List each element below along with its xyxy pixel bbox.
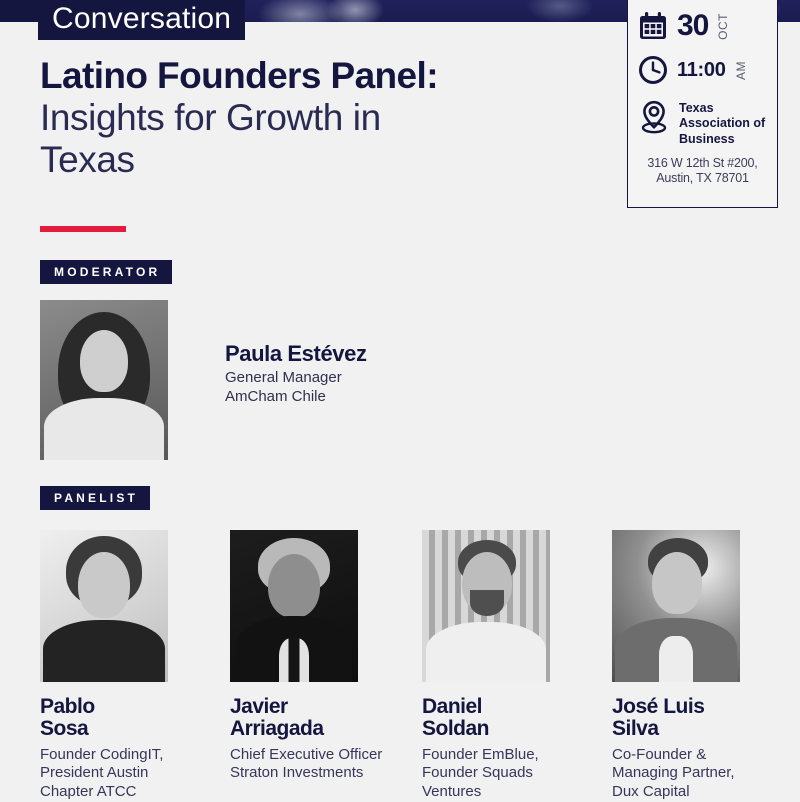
moderator-role: General Manager AmCham Chile [225,369,367,406]
panelist-name: Daniel Soldan [422,696,596,741]
panelist-photo [230,530,358,682]
event-address: 316 W 12th St #200, Austin, TX 78701 [637,156,768,187]
panelist-photo [40,530,168,682]
title-line-2: Insights for Growth in [40,97,600,139]
title-line-3: Texas [40,139,600,181]
panelist-role-line-1: Chief Executive Officer [230,746,404,765]
location-pin-icon [637,99,671,135]
panelist-role-line-2: President Austin [40,764,214,783]
panelist-section-badge: PANELIST [40,486,150,510]
panelist-card: Pablo Sosa Founder CodingIT, President A… [40,530,214,802]
clock-icon [637,54,669,86]
panelist-photo [422,530,550,682]
event-details-card: 30 OCT 11:00 AM Texas Association of Bus… [627,0,778,208]
panelist-photo [612,530,740,682]
panelist-name-line-1: Daniel [422,696,596,718]
panelist-role-line-3: Ventures [422,783,596,802]
moderator-name: Paula Estévez [225,342,367,366]
moderator-section-badge: MODERATOR [40,260,172,284]
panelist-name-line-1: Pablo [40,696,214,718]
panelist-name-line-2: Soldan [422,718,596,740]
event-day: 30 [677,11,708,41]
moderator-role-line-1: General Manager [225,369,367,388]
event-location-row: Texas Association of Business [637,99,768,147]
panelist-name-line-2: Arriagada [230,718,404,740]
moderator-role-line-2: AmCham Chile [225,388,367,407]
event-date-row: 30 OCT [637,10,768,42]
panelist-role: Founder EmBlue, Founder Squads Ventures [422,746,596,802]
event-address-line-2: Austin, TX 78701 [637,171,768,186]
panelist-role: Chief Executive Officer Straton Investme… [230,746,404,784]
moderator-block: Paula Estévez General Manager AmCham Chi… [40,300,367,460]
moderator-photo [40,300,168,460]
moderator-text: Paula Estévez General Manager AmCham Chi… [225,342,367,406]
event-month: OCT [716,13,730,40]
title-line-1: Latino Founders Panel: [40,55,600,97]
panelist-name: Pablo Sosa [40,696,214,741]
panelist-card: Daniel Soldan Founder EmBlue, Founder Sq… [422,530,596,802]
event-venue: Texas Association of Business [679,99,768,147]
panelist-role-line-3: Dux Capital [612,783,786,802]
panelist-role-line-3: Chapter ATCC [40,783,214,802]
panelist-role-line-1: Co-Founder & [612,746,786,765]
event-time-row: 11:00 AM [637,54,768,86]
calendar-icon [637,10,669,42]
event-time: 11:00 [677,60,726,80]
panelist-name-line-1: Javier [230,696,404,718]
panelist-card: José Luis Silva Co-Founder & Managing Pa… [612,530,786,802]
panelist-role-line-1: Founder EmBlue, [422,746,596,765]
page-title: Latino Founders Panel: Insights for Grow… [40,55,600,181]
panelist-role: Founder CodingIT, President Austin Chapt… [40,746,214,802]
panelist-card: Javier Arriagada Chief Executive Officer… [230,530,404,783]
panelist-name: José Luis Silva [612,696,786,741]
red-accent-rule [40,226,126,232]
panelist-name-line-1: José Luis [612,696,786,718]
conversation-kicker-badge: Conversation [38,0,245,40]
event-meridiem: AM [734,61,748,80]
panelist-role-line-2: Straton Investments [230,764,404,783]
panelist-role-line-2: Founder Squads [422,764,596,783]
panelist-role-line-2: Managing Partner, [612,764,786,783]
panelist-name-line-2: Sosa [40,718,214,740]
panelist-name: Javier Arriagada [230,696,404,741]
panelist-name-line-2: Silva [612,718,786,740]
panelist-role-line-1: Founder CodingIT, [40,746,214,765]
panelist-role: Co-Founder & Managing Partner, Dux Capit… [612,746,786,802]
event-address-line-1: 316 W 12th St #200, [637,156,768,171]
